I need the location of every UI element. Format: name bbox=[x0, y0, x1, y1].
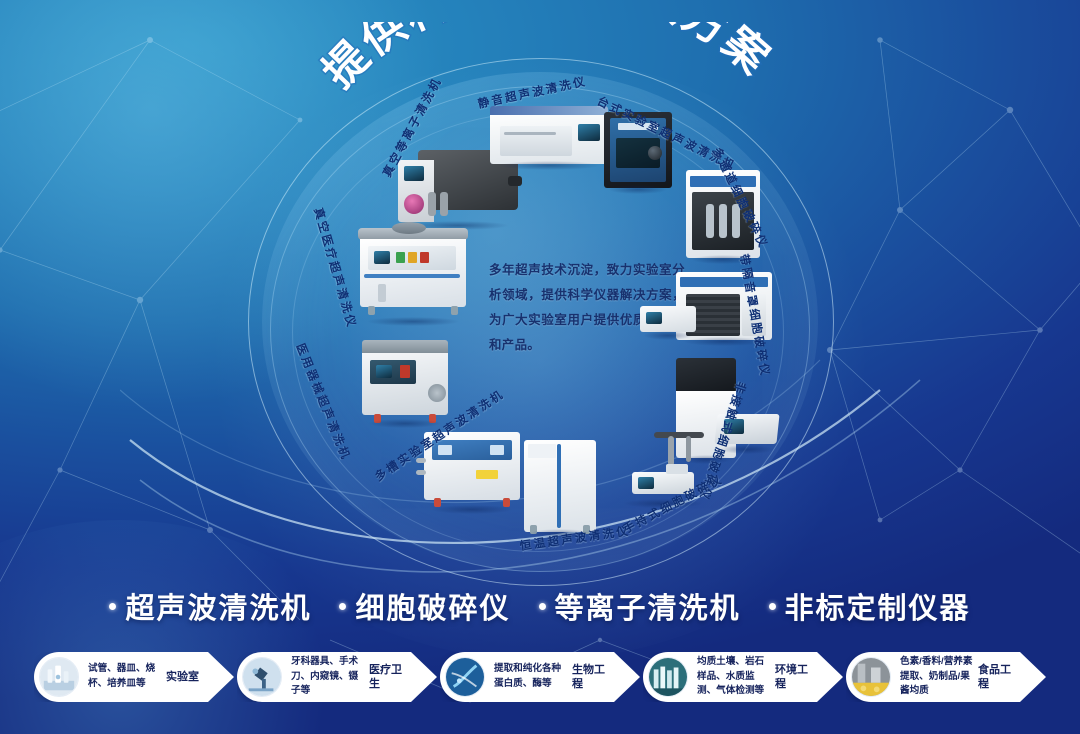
application-desc: 试管、器皿、烧杯、培养皿等 bbox=[79, 662, 166, 692]
keyword-label: 等离子清洗机 bbox=[555, 585, 741, 627]
keyword-label: 非标定制仪器 bbox=[785, 585, 971, 627]
application-item-medical: 牙科器具、手术刀、内窥镜、镊子等 医疗卫生 bbox=[237, 652, 437, 702]
poster-canvas: 提供科学仪器解决方案 多年超声技术沉淀，致力实验室分析领域，提供科学仪器解决方案… bbox=[0, 0, 1080, 734]
keyword-bar: 超声波清洗机 细胞破碎仪 等离子清洗机 非标定制仪器 bbox=[0, 578, 1080, 634]
application-desc: 色素/香料/营养素提取、奶制品/果酱均质 bbox=[891, 655, 978, 700]
application-item-lab: 试管、器皿、烧杯、培养皿等 实验室 bbox=[34, 652, 234, 702]
bullet-dot-icon bbox=[109, 603, 116, 610]
bullet-dot-icon bbox=[769, 603, 776, 610]
application-item-environment: 均质土壤、岩石样品、水质监测、气体检测等 环境工程 bbox=[643, 652, 843, 702]
product-constant-temp-ultrasonic bbox=[524, 440, 596, 532]
microscope-icon bbox=[242, 657, 282, 697]
application-field: 医疗卫生 bbox=[369, 663, 407, 692]
application-field: 生物工程 bbox=[572, 663, 610, 692]
product-medical-device-ultrasonic bbox=[362, 340, 448, 422]
application-field: 食品工程 bbox=[978, 663, 1016, 692]
product-silent-ultrasonic-cleaner bbox=[490, 106, 608, 164]
water-sample-icon bbox=[648, 657, 688, 697]
application-desc: 提取和纯化各种蛋白质、酶等 bbox=[485, 662, 572, 692]
application-item-food: 色素/香料/营养素提取、奶制品/果酱均质 食品工程 bbox=[846, 652, 1046, 702]
application-desc: 均质土壤、岩石样品、水质监测、气体检测等 bbox=[688, 655, 775, 700]
dna-icon bbox=[445, 657, 485, 697]
keyword-item: 等离子清洗机 bbox=[539, 585, 741, 627]
bullet-dot-icon bbox=[539, 603, 546, 610]
application-item-bio: 提取和纯化各种蛋白质、酶等 生物工程 bbox=[440, 652, 640, 702]
food-factory-icon bbox=[851, 657, 891, 697]
keyword-item: 细胞破碎仪 bbox=[339, 585, 510, 627]
bullet-dot-icon bbox=[339, 603, 346, 610]
application-field: 环境工程 bbox=[775, 663, 813, 692]
keyword-item: 非标定制仪器 bbox=[769, 585, 971, 627]
lab-glassware-icon bbox=[39, 657, 79, 697]
keyword-label: 细胞破碎仪 bbox=[355, 585, 510, 627]
application-strip: 试管、器皿、烧杯、培养皿等 实验室 牙科器具、手术刀、内窥镜、镊子等 医疗卫生 bbox=[0, 644, 1080, 710]
product-benchtop-accessory bbox=[640, 300, 696, 334]
application-desc: 牙科器具、手术刀、内窥镜、镊子等 bbox=[282, 655, 369, 700]
keyword-item: 超声波清洗机 bbox=[109, 585, 311, 627]
application-field: 实验室 bbox=[166, 670, 204, 684]
product-vacuum-medical-ultrasonic bbox=[358, 228, 468, 320]
keyword-label: 超声波清洗机 bbox=[125, 585, 311, 627]
